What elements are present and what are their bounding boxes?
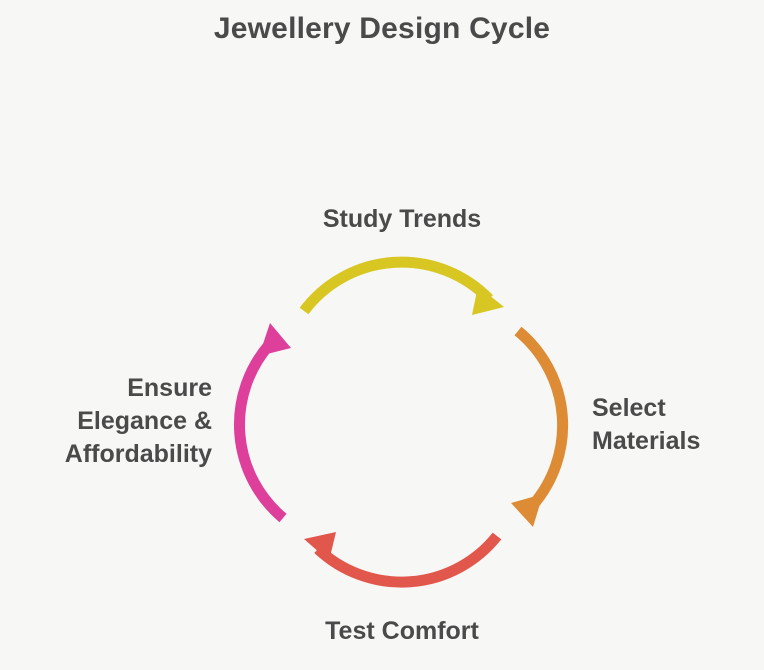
test-comfort-arc-path	[318, 536, 497, 582]
select-materials-arc-path	[518, 331, 563, 505]
test-comfort-arc	[304, 532, 497, 582]
study-trends-arc-path	[304, 262, 489, 311]
select-materials-arc	[511, 331, 563, 527]
select-materials-arrowhead	[511, 494, 543, 527]
study-trends-arc	[304, 262, 504, 315]
node-label-select-materials: Select Materials	[592, 392, 760, 458]
cycle-arrows-svg	[0, 0, 764, 670]
cycle-diagram: Jewellery Design Cycle Study Trends Sele…	[0, 0, 764, 670]
ensure-elegance-arrowhead	[259, 323, 291, 356]
node-label-test-comfort: Test Comfort	[262, 615, 542, 648]
ensure-elegance-arc	[239, 323, 291, 518]
node-label-study-trends: Study Trends	[262, 203, 542, 236]
ensure-elegance-arc-path	[239, 345, 283, 518]
node-label-ensure-elegance: Ensure Elegance & Affordability	[8, 372, 212, 471]
